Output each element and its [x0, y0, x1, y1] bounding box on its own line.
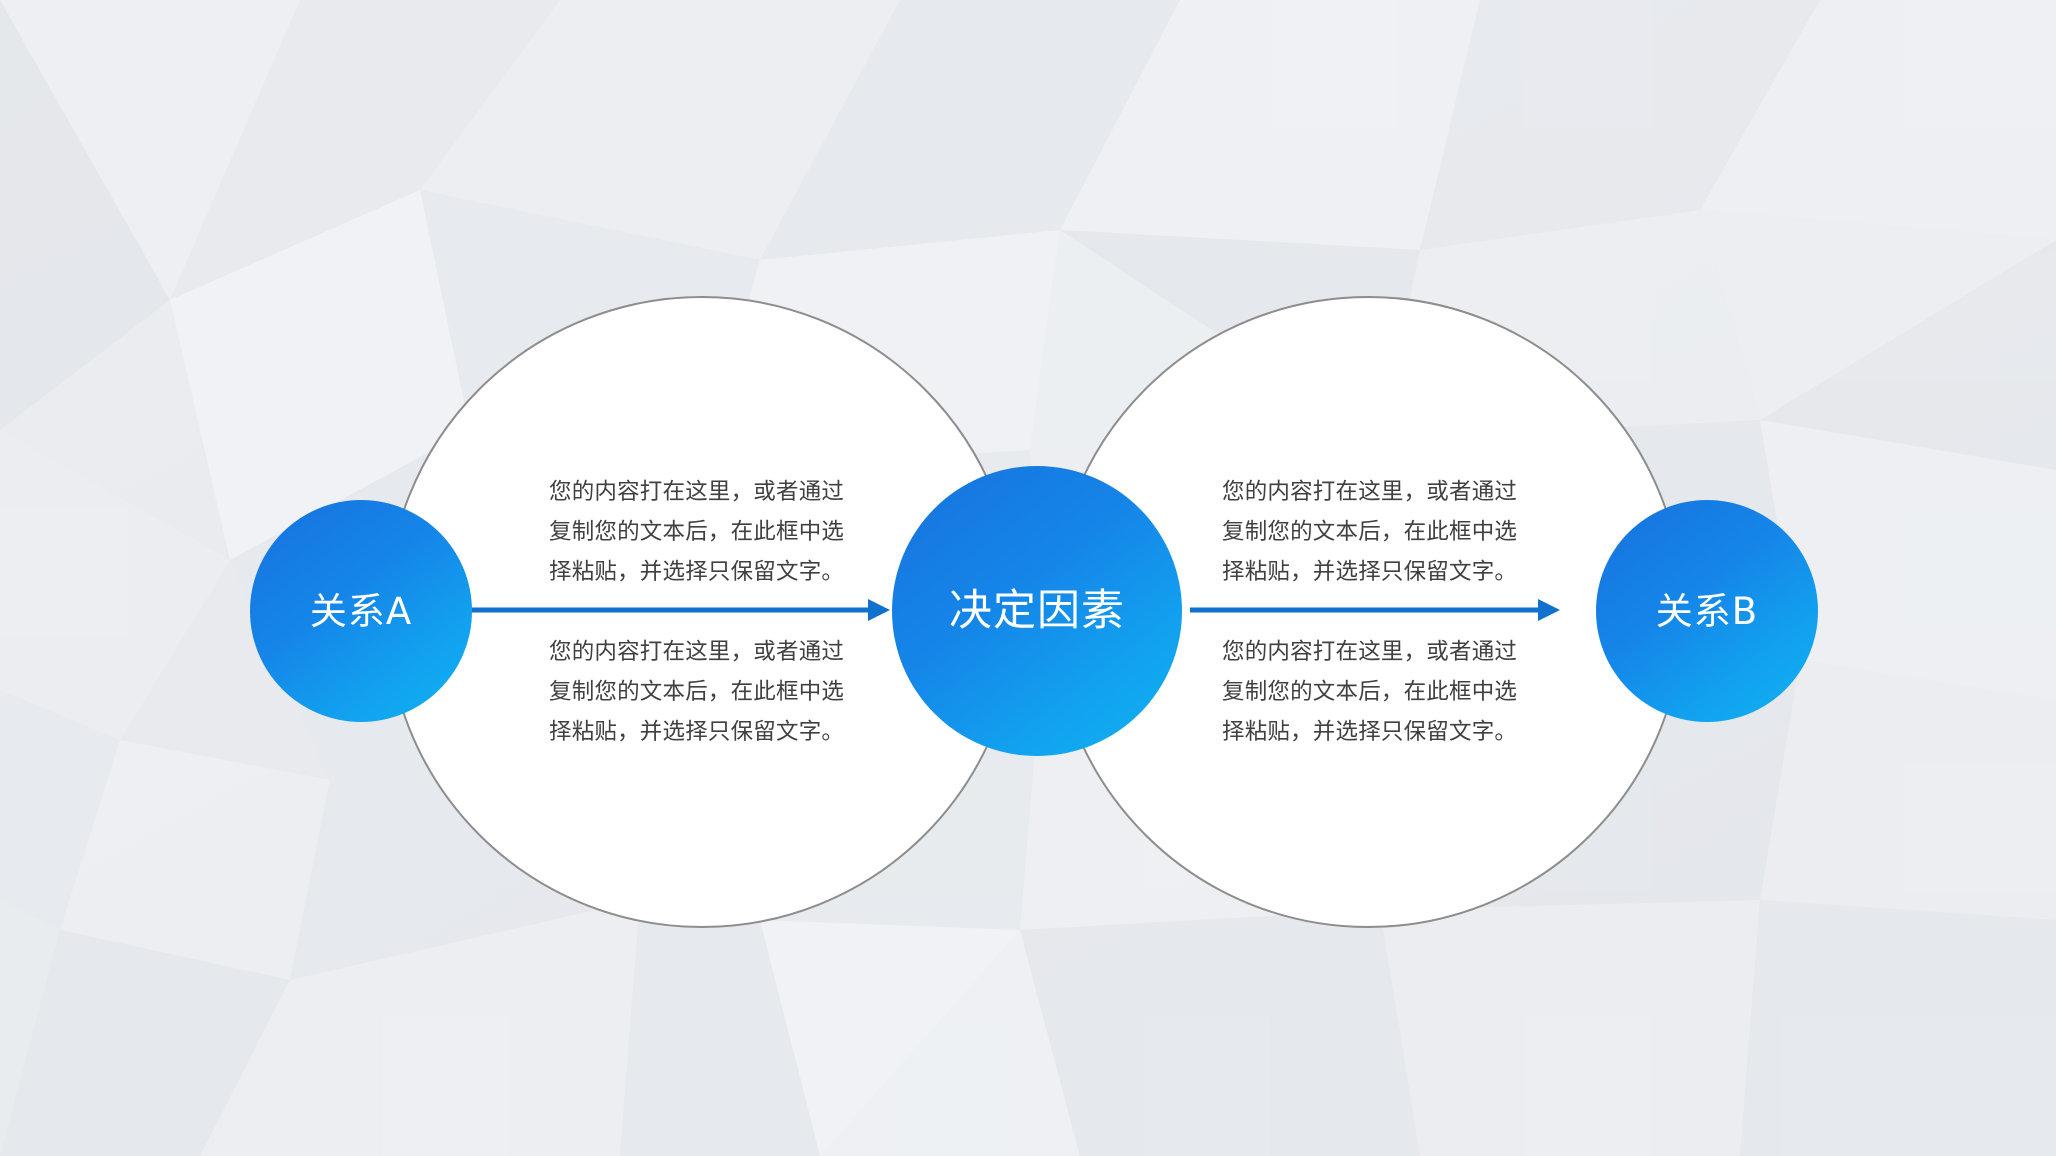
diagram-stage: 您的内容打在这里，或者通过复制您的文本后，在此框中选择粘贴，并选择只保留文字。 … — [0, 0, 2056, 1156]
node-decisive-factor-label: 决定因素 — [949, 590, 1125, 633]
node-relation-b[interactable]: 关系B — [1596, 500, 1818, 722]
slide-canvas: 您的内容打在这里，或者通过复制您的文本后，在此框中选择粘贴，并选择只保留文字。 … — [0, 0, 2056, 1156]
text-block-left-top[interactable]: 您的内容打在这里，或者通过复制您的文本后，在此框中选择粘贴，并选择只保留文字。 — [549, 472, 849, 592]
node-decisive-factor[interactable]: 决定因素 — [892, 466, 1182, 756]
text-block-right-top[interactable]: 您的内容打在这里，或者通过复制您的文本后，在此框中选择粘贴，并选择只保留文字。 — [1222, 472, 1522, 592]
node-relation-a[interactable]: 关系A — [250, 500, 472, 722]
text-block-left-bottom[interactable]: 您的内容打在这里，或者通过复制您的文本后，在此框中选择粘贴，并选择只保留文字。 — [549, 632, 849, 752]
arrow-center-to-right — [1190, 595, 1560, 625]
node-relation-b-label: 关系B — [1656, 593, 1758, 630]
text-block-right-bottom[interactable]: 您的内容打在这里，或者通过复制您的文本后，在此框中选择粘贴，并选择只保留文字。 — [1222, 632, 1522, 752]
node-relation-a-label: 关系A — [310, 593, 412, 630]
arrow-left-to-center — [440, 595, 890, 625]
